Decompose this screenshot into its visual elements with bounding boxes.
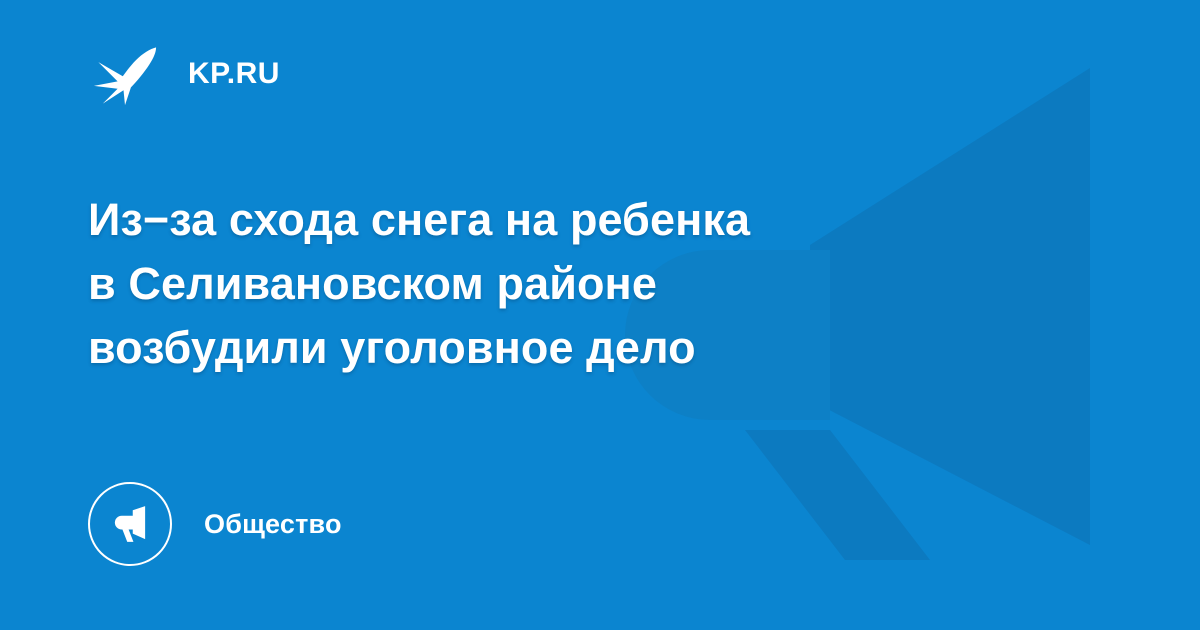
category-label: Общество bbox=[204, 509, 342, 540]
headline: Из−за схода снега на ребенка в Селиванов… bbox=[88, 188, 988, 380]
watermark-handle bbox=[745, 430, 930, 560]
category-icon-circle bbox=[88, 482, 172, 566]
headline-line-2: в Селивановском районе bbox=[88, 252, 988, 316]
headline-line-1: Из−за схода снега на ребенка bbox=[88, 188, 988, 252]
brand-name: KP.RU bbox=[188, 59, 280, 89]
swallow-bird-icon bbox=[88, 37, 162, 111]
social-share-card: KP.RU Из−за схода снега на ребенка в Сел… bbox=[0, 0, 1200, 630]
category-badge[interactable]: Общество bbox=[88, 478, 342, 570]
megaphone-icon bbox=[108, 502, 152, 546]
headline-line-3: возбудили уголовное дело bbox=[88, 316, 988, 380]
brand-header[interactable]: KP.RU bbox=[88, 38, 280, 110]
